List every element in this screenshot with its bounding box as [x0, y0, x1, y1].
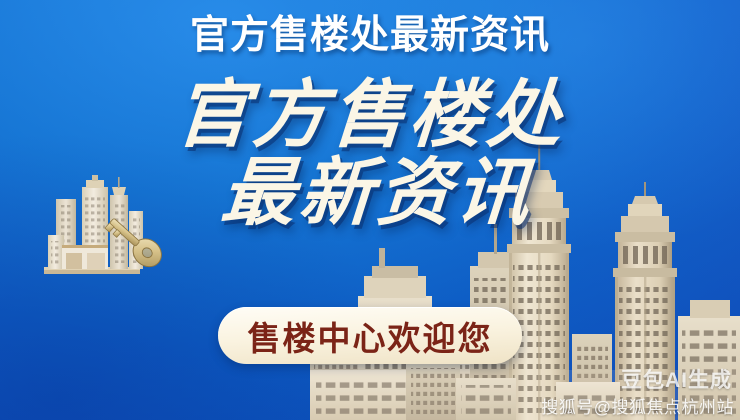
headline-line-1: 官方售楼处: [0, 78, 740, 154]
sohu-account-watermark: 搜狐号@搜狐焦点杭州站: [541, 393, 734, 418]
headline: 官方售楼处 最新资讯: [0, 78, 740, 232]
page-title: 官方售楼处最新资讯: [0, 16, 740, 57]
promo-banner: 官方售楼处最新资讯 官方售楼处 最新资讯 售楼中心欢迎您 豆包AI生成 搜狐号@…: [0, 0, 740, 420]
sales-center-welcome-button[interactable]: 售楼中心欢迎您: [218, 307, 522, 364]
ai-generated-watermark: 豆包AI生成: [621, 364, 732, 394]
sales-center-welcome-label: 售楼中心欢迎您: [248, 312, 493, 360]
headline-line-2: 最新资讯: [0, 156, 740, 232]
